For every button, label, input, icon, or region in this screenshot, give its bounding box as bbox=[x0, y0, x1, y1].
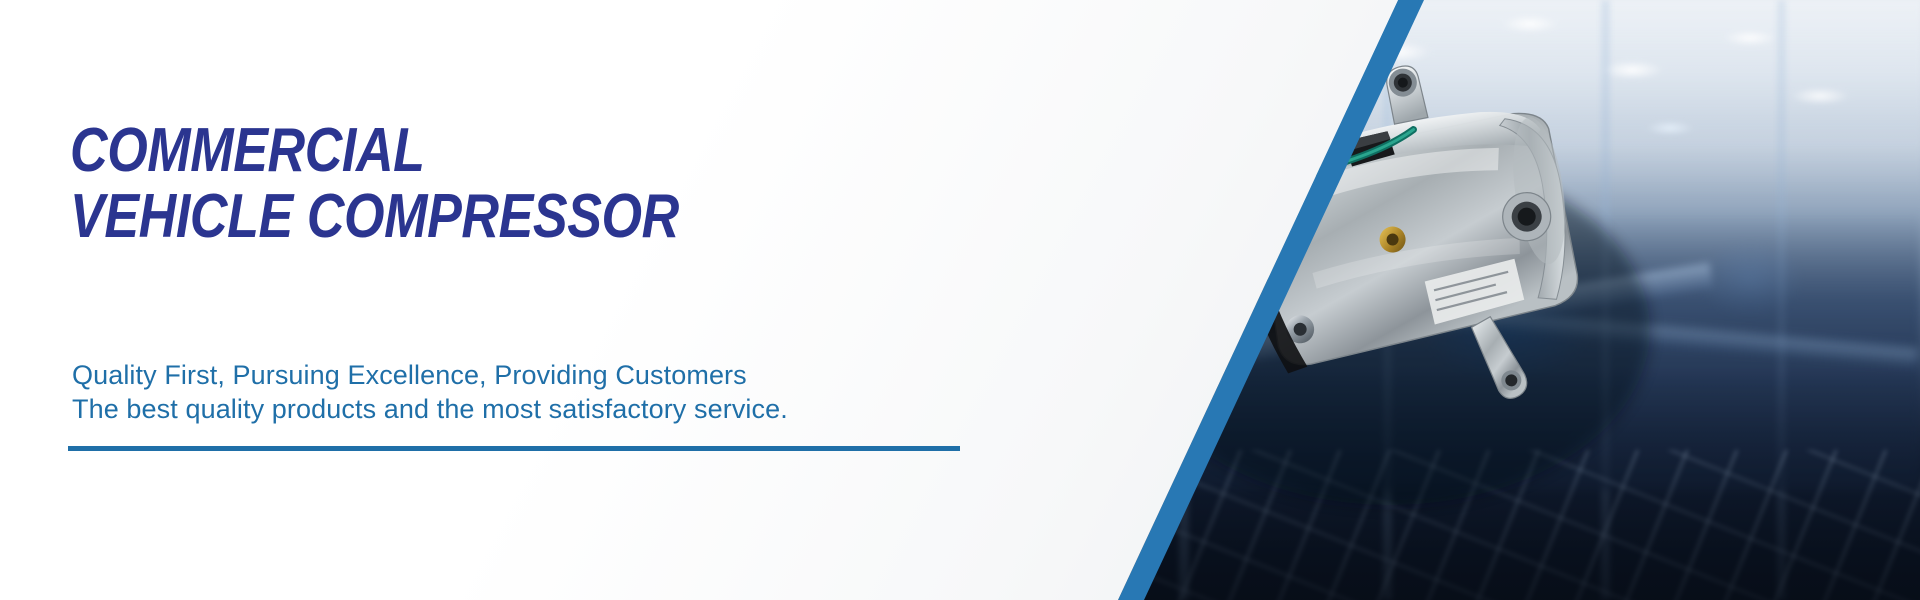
tagline: Quality First, Pursuing Excellence, Prov… bbox=[72, 358, 788, 426]
headline-line-1: COMMERCIAL bbox=[70, 118, 679, 184]
hero-banner: COMMERCIAL VEHICLE COMPRESSOR Quality Fi… bbox=[0, 0, 1920, 600]
headline-line-2: VEHICLE COMPRESSOR bbox=[70, 184, 679, 250]
accent-rule bbox=[68, 446, 960, 451]
tagline-line-2: The best quality products and the most s… bbox=[72, 392, 788, 426]
text-content: COMMERCIAL VEHICLE COMPRESSOR Quality Fi… bbox=[0, 0, 1000, 600]
tagline-line-1: Quality First, Pursuing Excellence, Prov… bbox=[72, 358, 788, 392]
page-title: COMMERCIAL VEHICLE COMPRESSOR bbox=[70, 118, 679, 250]
